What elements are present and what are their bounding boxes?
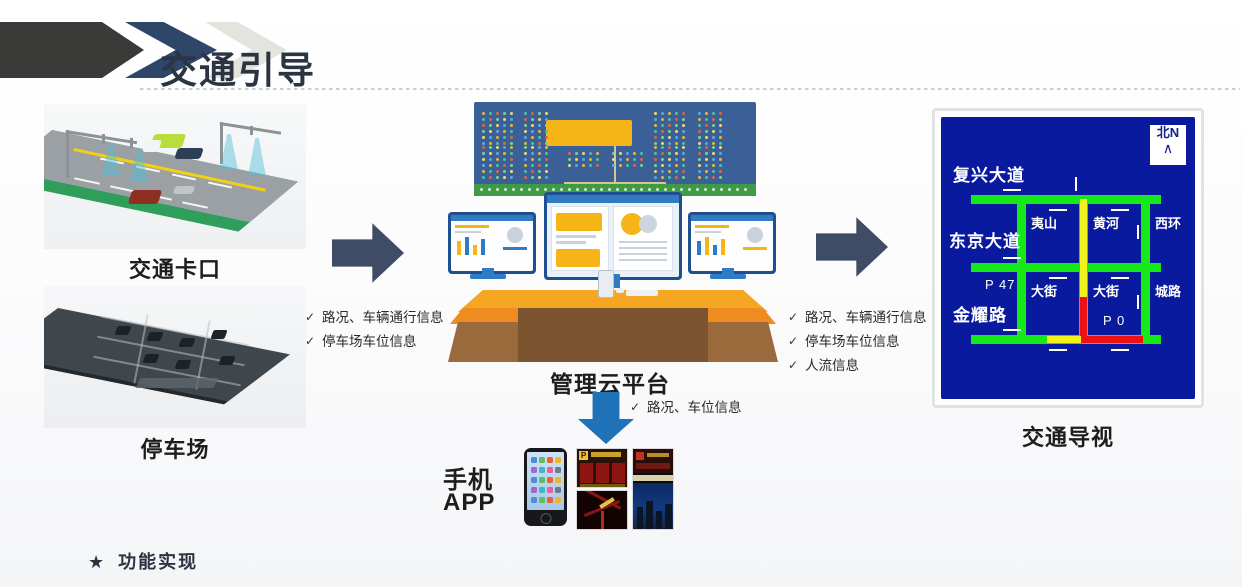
- sign-status-jam-v: [1080, 297, 1087, 341]
- sign-label-jinyao: 金耀路: [953, 301, 1007, 326]
- list-item: 人流信息: [788, 356, 927, 377]
- monitor-center: [544, 192, 682, 280]
- sign-caption: 交通导视: [932, 420, 1204, 452]
- parking-lot-image: [44, 286, 306, 428]
- north-label: 北N: [1150, 125, 1186, 141]
- checkpoint-caption: 交通卡口: [44, 252, 306, 284]
- control-desk-inner: [518, 308, 708, 362]
- page-title: 交通引导: [160, 52, 316, 89]
- sign-road-h2: [971, 263, 1161, 272]
- sign-road-v3: [1141, 195, 1150, 344]
- sign-label-yishan-bottom: 大街: [1031, 285, 1044, 298]
- sign-label-huanghe-top: 黄河: [1093, 217, 1106, 230]
- phone-home-button-icon: [540, 513, 551, 524]
- sign-parking-p0: P 0: [1103, 313, 1125, 328]
- footer-label: 功能实现: [118, 552, 198, 572]
- list-item: 路况、车位信息: [630, 398, 742, 419]
- checklist-app: 路况、车位信息: [630, 398, 742, 422]
- app-screenshot-chart: [576, 490, 628, 530]
- north-arrow-icon: ∧: [1150, 141, 1186, 155]
- checklist-right: 路况、车辆通行信息 停车场车位信息 人流信息: [788, 308, 927, 380]
- app-screenshot-parking: P: [576, 448, 628, 488]
- desk-phone-icon: [598, 270, 614, 298]
- sign-status-jam-h: [1081, 336, 1143, 343]
- sign-label-xihuan-bottom: 城路: [1155, 285, 1168, 298]
- video-wall-banner: [546, 120, 632, 146]
- app-screenshot-city: [632, 448, 674, 530]
- slide-root: 交通引导 交通卡口: [0, 0, 1242, 587]
- traffic-guidance-sign: 北N ∧: [932, 108, 1204, 408]
- chevron-dark-icon: [0, 22, 144, 78]
- north-compass-icon: 北N ∧: [1148, 123, 1188, 167]
- arrow-right-icon-right: [816, 216, 888, 278]
- cloud-platform-image: [440, 100, 785, 358]
- phone-device-image: [524, 448, 567, 526]
- monitor-left: [448, 212, 536, 274]
- sign-label-fuxing: 复兴大道: [953, 161, 1025, 186]
- sign-map: 北N ∧: [941, 117, 1195, 399]
- arrow-down-icon: [578, 392, 634, 444]
- sign-road-h1: [971, 195, 1161, 204]
- monitor-right: [688, 212, 776, 274]
- list-item: 路况、车辆通行信息: [788, 308, 927, 329]
- checklist-left: 路况、车辆通行信息 停车场车位信息: [305, 308, 444, 356]
- header-divider: [140, 88, 1240, 90]
- sign-road-v1: [1017, 195, 1026, 344]
- list-item: 停车场车位信息: [305, 332, 444, 353]
- sign-status-slow-v: [1080, 199, 1087, 297]
- sign-label-yishan-top: 夷山: [1031, 217, 1044, 230]
- sign-status-slow-h: [1047, 336, 1081, 343]
- sign-label-dongjing: 东京大道: [949, 227, 1021, 252]
- footer-note: ★功能实现: [88, 548, 198, 574]
- list-item: 停车场车位信息: [788, 332, 927, 353]
- sign-label-xihuan-top: 西环: [1155, 217, 1168, 230]
- arrow-right-icon-left: [332, 222, 404, 284]
- star-icon: ★: [88, 552, 106, 572]
- traffic-checkpoint-image: [44, 104, 306, 249]
- mobile-app-caption-line2: APP: [443, 489, 513, 517]
- sign-label-huanghe-bottom: 大街: [1093, 285, 1106, 298]
- parking-caption: 停车场: [44, 432, 306, 464]
- slide-header: 交通引导: [0, 22, 1242, 78]
- sign-parking-p47: P 47: [985, 277, 1016, 292]
- list-item: 路况、车辆通行信息: [305, 308, 444, 329]
